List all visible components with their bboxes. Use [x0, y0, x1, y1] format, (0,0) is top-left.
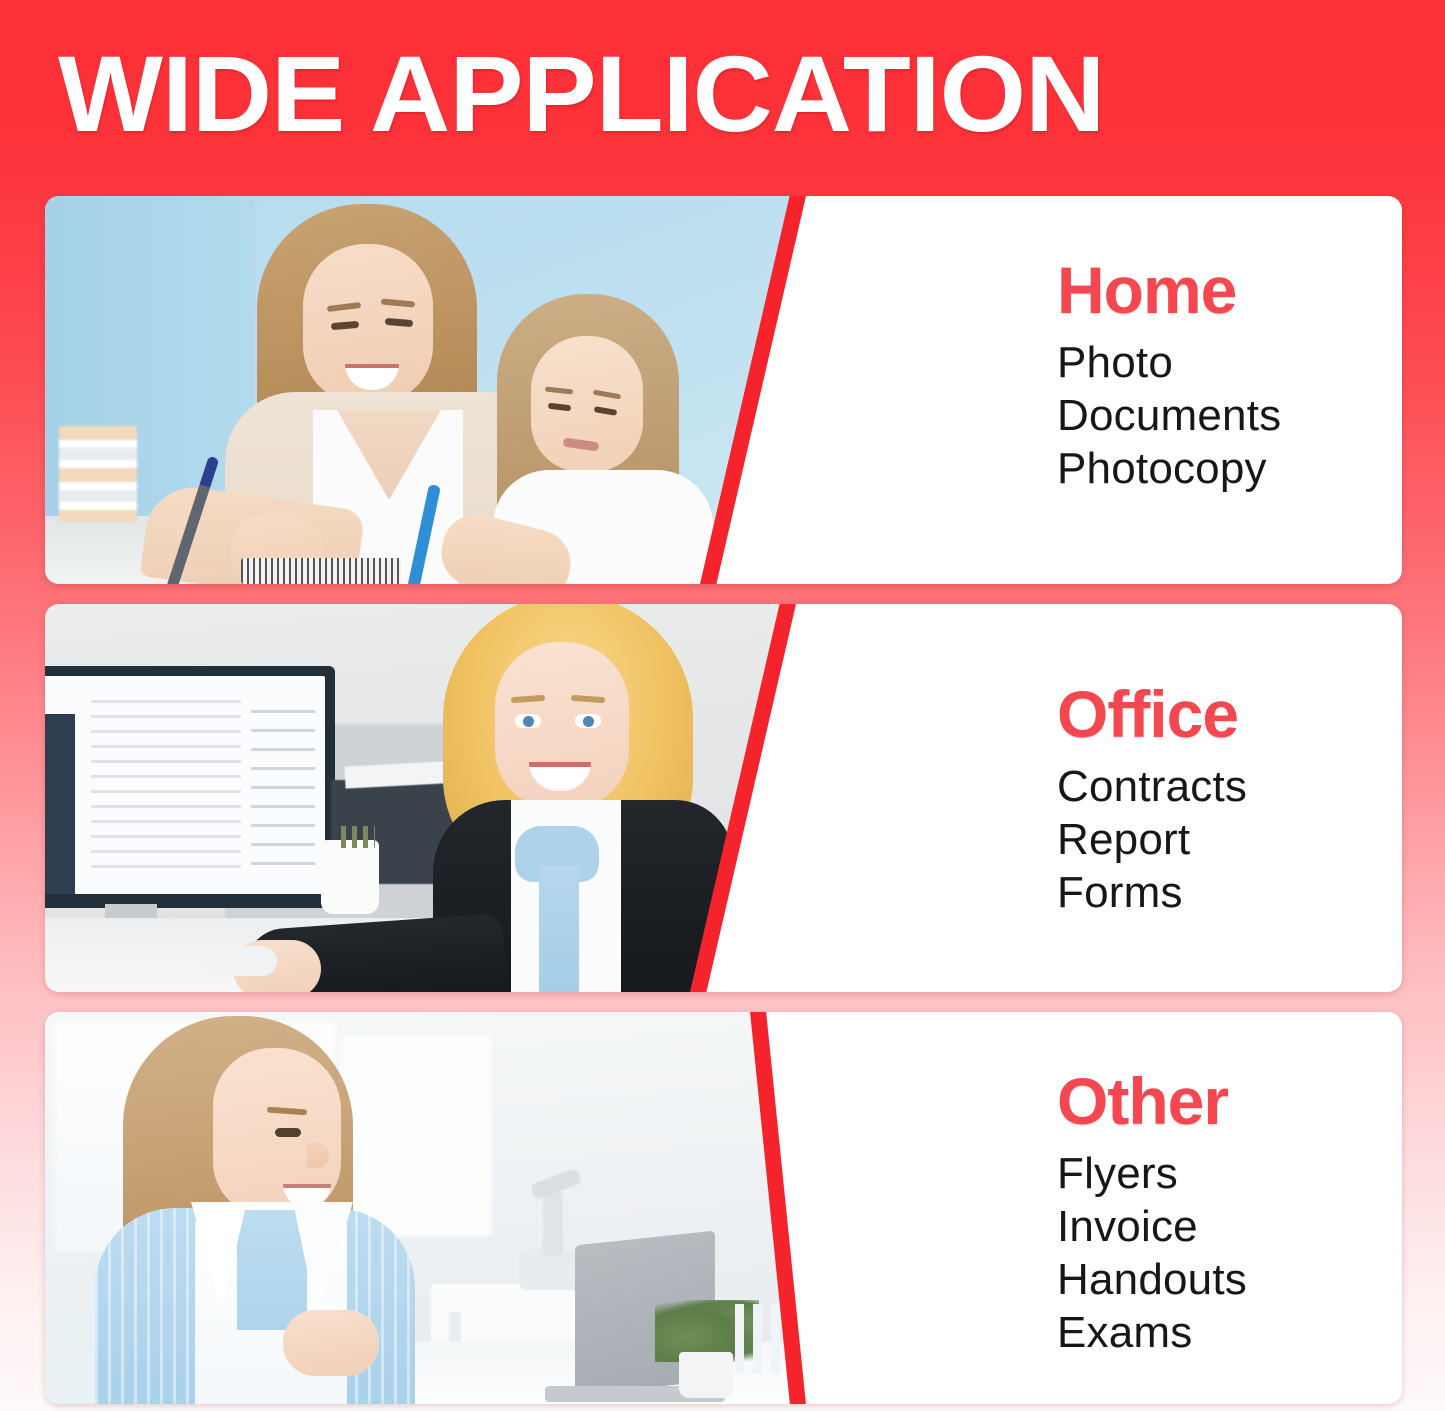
- screen-text-lines-secondary: [251, 710, 315, 870]
- list-item: Forms: [1057, 866, 1402, 919]
- window-light-secondary: [341, 1036, 491, 1236]
- plant-pot: [679, 1352, 733, 1398]
- list-item: Report: [1057, 813, 1402, 866]
- card-photo-other: [45, 1012, 845, 1404]
- card-text-panel-office: Office Contracts Report Forms: [842, 604, 1402, 992]
- woman-iris-left: [523, 716, 534, 727]
- list-item: Photocopy: [1057, 442, 1402, 495]
- wide-application-poster: WIDE APPLICATION: [0, 0, 1445, 1411]
- page-title: WIDE APPLICATION: [58, 38, 1428, 150]
- blue-shirt: [237, 1210, 307, 1330]
- list-item: Photo: [1057, 336, 1402, 389]
- application-card-home: Home Photo Documents Photocopy: [45, 196, 1402, 584]
- list-item: Exams: [1057, 1306, 1402, 1359]
- application-card-office: Office Contracts Report Forms: [45, 604, 1402, 992]
- computer-mouse: [207, 946, 277, 976]
- card-item-list-office: Contracts Report Forms: [1057, 760, 1402, 919]
- blue-ribbon: [539, 866, 579, 992]
- list-item: Documents: [1057, 389, 1402, 442]
- woman-iris-right: [583, 716, 594, 727]
- clasped-hands: [283, 1310, 379, 1376]
- screen-text-lines: [91, 700, 241, 870]
- woman-nose: [307, 1142, 329, 1168]
- notebook: [241, 558, 401, 584]
- books-stack: [59, 426, 137, 522]
- card-heading-office: Office: [1057, 678, 1402, 750]
- list-item: Invoice: [1057, 1200, 1402, 1253]
- woman-eye: [275, 1128, 301, 1137]
- card-heading-other: Other: [1057, 1065, 1402, 1137]
- card-text-panel-home: Home Photo Documents Photocopy: [842, 196, 1402, 584]
- microscope-arm: [543, 1190, 563, 1256]
- list-item: Flyers: [1057, 1147, 1402, 1200]
- card-item-list-home: Photo Documents Photocopy: [1057, 336, 1402, 495]
- list-item: Contracts: [1057, 760, 1402, 813]
- pen-holder: [341, 826, 375, 848]
- list-item: Handouts: [1057, 1253, 1402, 1306]
- card-text-panel-other: Other Flyers Invoice Handouts Exams: [842, 1012, 1402, 1404]
- screen-sidebar: [45, 714, 75, 894]
- card-photo-office: [45, 604, 845, 992]
- card-heading-home: Home: [1057, 254, 1402, 326]
- photo-office-illustration: [45, 604, 845, 992]
- application-card-other: Other Flyers Invoice Handouts Exams: [45, 1012, 1402, 1404]
- photo-other-illustration: [45, 1012, 845, 1404]
- mug: [321, 840, 379, 914]
- card-item-list-other: Flyers Invoice Handouts Exams: [1057, 1147, 1402, 1359]
